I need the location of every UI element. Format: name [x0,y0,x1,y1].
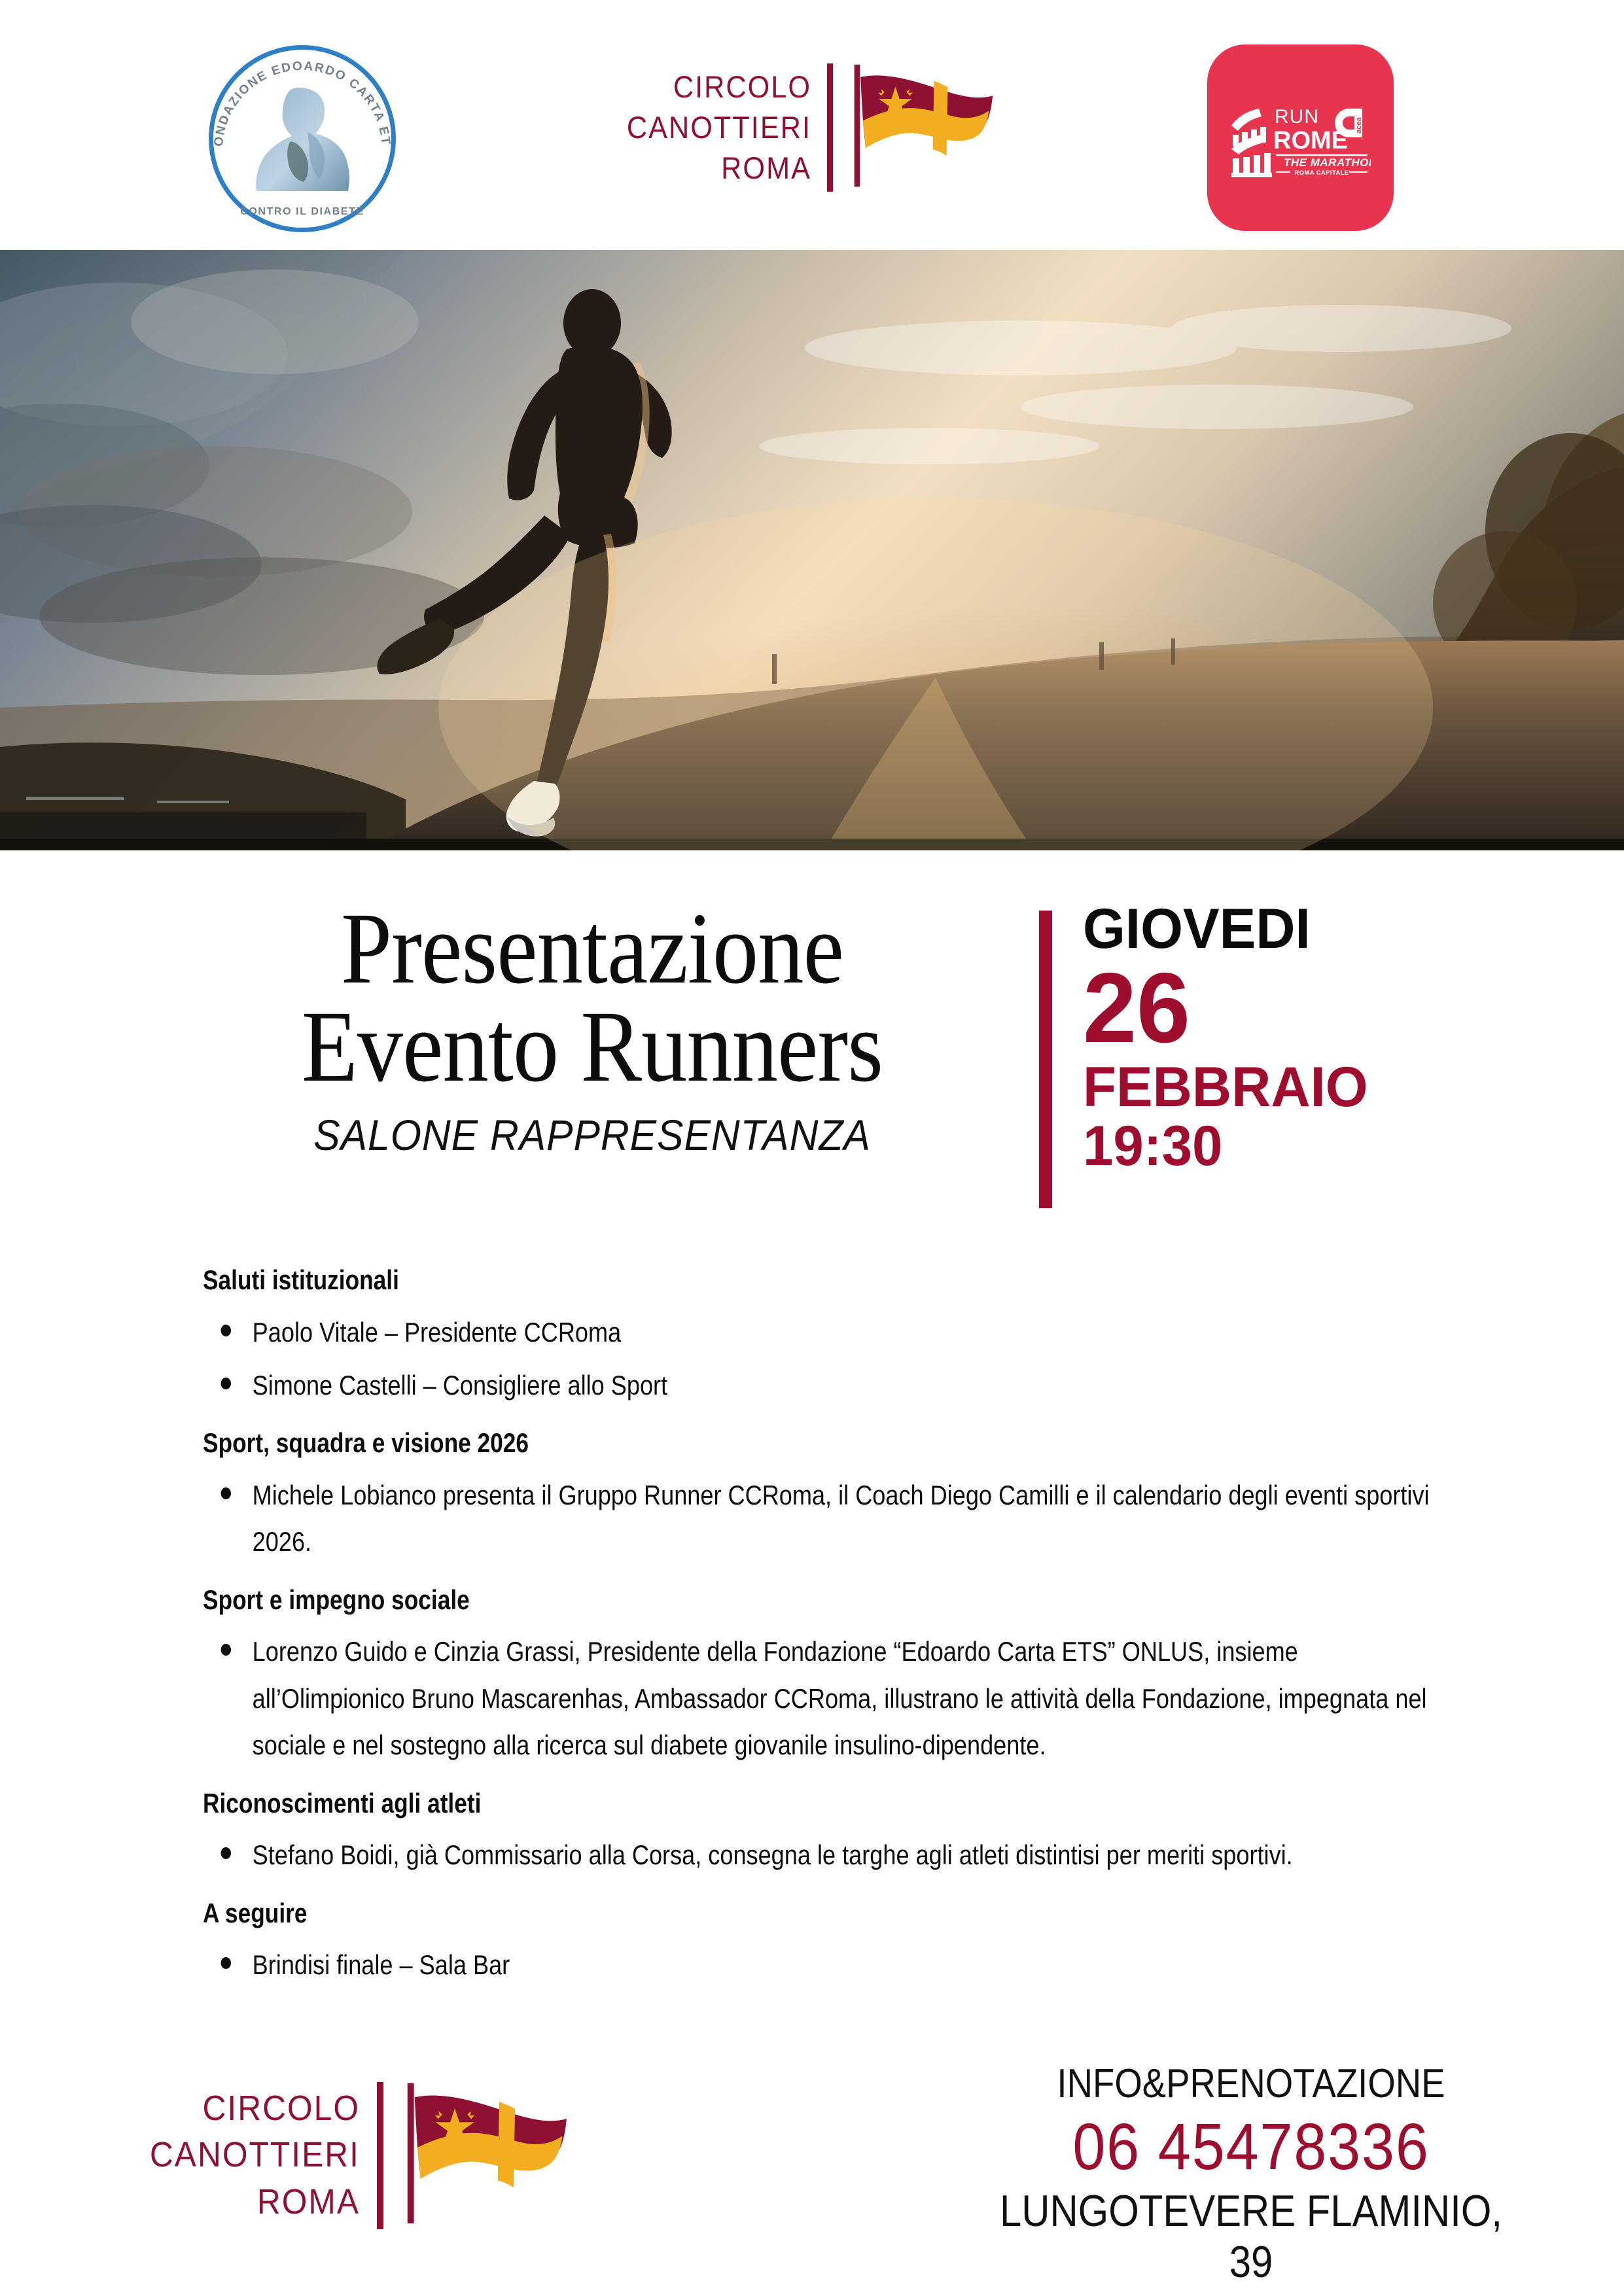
program-section-items: Stefano Boidi, già Commissario alla Cors… [203,1832,1446,1878]
contact-label: INFO&PRENOTAZIONE [992,2061,1510,2107]
runrome-line-capitale: ROMA CAPITALE [1294,169,1349,177]
poster-footer: CIRCOLO CANOTTIERI ROMA [0,2021,1624,2296]
program-section-items: Lorenzo Guido e Cinzia Grassi, President… [203,1628,1446,1768]
ccr-line-2: CANOTTIERI [595,107,811,148]
list-item-text: Paolo Vitale – Presidente CCRoma [253,1317,622,1348]
poster-header: FONDAZIONE EDOARDO CARTA ETS CONTRO IL D… [0,0,1624,250]
date-month: FEBBRAIO [1083,1059,1438,1115]
list-item-text: Brindisi finale – Sala Bar [253,1949,510,1980]
contact-address: LUNGOTEVERE FLAMINIO, 39 [992,2185,1510,2287]
bullet-icon [221,1487,231,1499]
event-title-group: Presentazione Evento Runners SALONE RAPP… [167,899,1017,1160]
bullet-icon [221,1644,231,1656]
run-rome-emblem-icon: RUN ROME acea THE MARATHON ROMA CAPITALE [1230,97,1371,179]
bullet-icon [221,1957,231,1969]
ccr-divider [827,63,833,192]
bullet-icon [221,1847,231,1859]
date-day-number: 26 [1083,961,1438,1056]
program-section-heading: Sport, squadra e visione 2026 [203,1425,1445,1461]
list-item: Michele Lobianco presenta il Gruppo Runn… [203,1472,1443,1565]
contact-block: INFO&PRENOTAZIONE 06 45478336 LUNGOTEVER… [957,2061,1545,2287]
ccr-footer-line-2: CANOTTIERI [119,2132,360,2178]
date-weekday: GIOVEDI [1083,901,1438,957]
ccr-divider-footer [377,2082,383,2229]
hero-photo-runner [0,250,1624,850]
page-title-line-1: Presentazione [209,899,975,998]
list-item: Paolo Vitale – Presidente CCRoma [203,1309,1443,1355]
list-item-text: Lorenzo Guido e Cinzia Grassi, President… [253,1636,1427,1760]
program-section-heading: Riconoscimenti agli atleti [203,1786,1445,1822]
list-item: Lorenzo Guido e Cinzia Grassi, President… [203,1628,1443,1768]
list-item-text: Michele Lobianco presenta il Gruppo Runn… [253,1480,1430,1557]
program-section-items: Paolo Vitale – Presidente CCRoma Simone … [203,1309,1446,1409]
program-section-heading: A seguire [203,1896,1445,1932]
date-time: 19:30 [1083,1117,1438,1175]
program-section-heading: Saluti istituzionali [203,1262,1445,1298]
logo-circolo-canottieri-roma-header: CIRCOLO CANOTTIERI ROMA [576,46,1034,209]
ccr-flag-icon-footer [403,2080,581,2231]
list-item: Stefano Boidi, già Commissario alla Cors… [203,1832,1443,1878]
ccr-flag-icon [850,62,1006,193]
ccr-line-3: ROMA [595,148,811,188]
program-section-items: Brindisi finale – Sala Bar [203,1941,1446,1988]
ccr-wordmark-footer: CIRCOLO CANOTTIERI ROMA [119,2085,360,2225]
ccr-footer-line-1: CIRCOLO [119,2085,360,2132]
page-title-line-2: Evento Runners [209,998,975,1096]
event-subtitle: SALONE RAPPRESENTANZA [201,1110,983,1160]
logo-fondazione-edoardo-carta: FONDAZIONE EDOARDO CARTA ETS CONTRO IL D… [185,41,420,237]
list-item: Brindisi finale – Sala Bar [203,1941,1443,1988]
bullet-icon [221,1378,231,1389]
event-date-block: GIOVEDI 26 FEBBRAIO 19:30 [1083,901,1449,1175]
date-divider-bar [1039,911,1052,1208]
fondazione-emblem-icon: FONDAZIONE EDOARDO CARTA ETS CONTRO IL D… [185,41,420,237]
contact-phone[interactable]: 06 45478336 [986,2111,1516,2183]
list-item-text: Stefano Boidi, già Commissario alla Cors… [253,1839,1293,1870]
ccr-line-1: CIRCOLO [595,67,811,107]
runrome-line-marathon: THE MARATHON [1284,156,1371,169]
list-item-text: Simone Castelli – Consigliere allo Sport [253,1370,667,1400]
logo-circolo-canottieri-roma-footer: CIRCOLO CANOTTIERI ROMA [98,2047,622,2263]
program-list: Saluti istituzionali Paolo Vitale – Pres… [203,1262,1446,2005]
runrome-line-run: RUN [1275,106,1319,128]
acea-sponsor-text: acea [1355,117,1363,133]
title-date-block: Presentazione Evento Runners SALONE RAPP… [0,886,1624,1226]
list-item: Simone Castelli – Consigliere allo Sport [203,1362,1443,1408]
runrome-line-rome: ROME [1273,127,1348,154]
logo-run-rome-marathon: RUN ROME acea THE MARATHON ROMA CAPITALE [1207,44,1394,231]
bullet-icon [221,1325,231,1336]
program-section-heading: Sport e impegno sociale [203,1582,1445,1618]
ccr-footer-line-3: ROMA [119,2179,360,2225]
fondazione-tagline: CONTRO IL DIABETE [240,206,364,217]
ccr-wordmark: CIRCOLO CANOTTIERI ROMA [595,67,811,188]
program-section-items: Michele Lobianco presenta il Gruppo Runn… [203,1472,1446,1565]
